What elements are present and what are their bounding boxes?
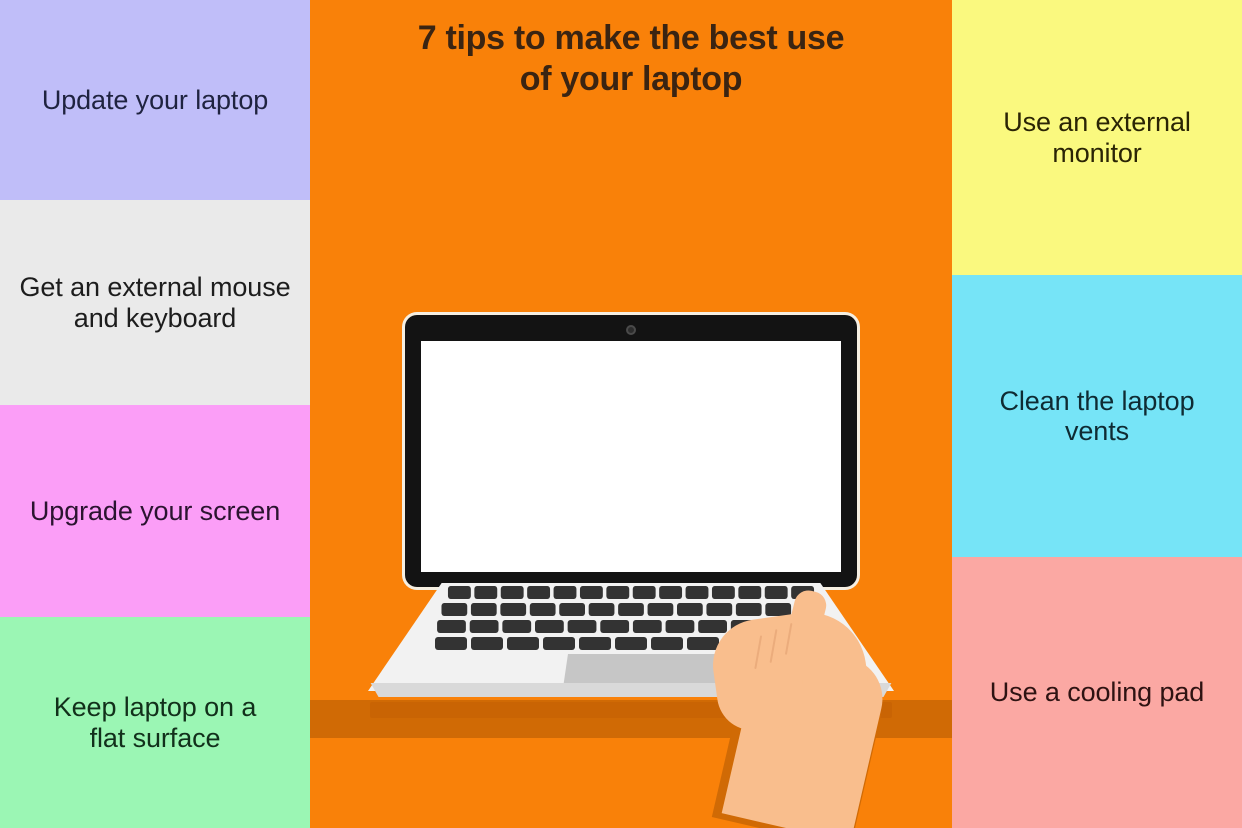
- keyboard-key: [580, 586, 603, 599]
- keyboard-key: [666, 620, 695, 633]
- keyboard-key: [736, 603, 762, 616]
- tip-panel-update-your-laptop[interactable]: Update your laptop: [0, 0, 310, 200]
- tip-label-use-a-cooling-pad: Use a cooling pad: [990, 677, 1204, 707]
- webcam-icon: [626, 325, 636, 335]
- tip-panel-use-an-external-monitor[interactable]: Use an external monitor: [952, 0, 1242, 275]
- keyboard-key: [448, 586, 471, 599]
- laptop-lid: [405, 315, 857, 587]
- keyboard-key: [568, 620, 597, 633]
- keyboard-row: [412, 586, 850, 599]
- keyboard-key: [527, 586, 550, 599]
- keyboard-key: [435, 637, 467, 650]
- keyboard-key: [441, 603, 467, 616]
- keyboard-key: [633, 586, 656, 599]
- keyboard-key: [579, 637, 611, 650]
- keyboard-key: [589, 603, 615, 616]
- tip-panel-upgrade-your-screen[interactable]: Upgrade your screen: [0, 405, 310, 617]
- tip-panel-get-an-external-mouse-and-keyboard[interactable]: Get an external mouse and keyboard: [0, 200, 310, 405]
- laptop-illustration: [310, 0, 952, 828]
- keyboard-key: [600, 620, 629, 633]
- keyboard-key: [502, 620, 531, 633]
- keyboard-key: [686, 586, 709, 599]
- keyboard-key: [507, 637, 539, 650]
- keyboard-key: [554, 586, 577, 599]
- keyboard-key: [501, 586, 524, 599]
- tip-label-update-your-laptop: Update your laptop: [42, 85, 268, 115]
- keyboard-key: [677, 603, 703, 616]
- left-knuckle-line: [770, 629, 778, 663]
- keyboard-key: [651, 637, 683, 650]
- keyboard-key: [615, 637, 647, 650]
- tip-label-keep-laptop-on-a-flat-surface: Keep laptop on a flat surface: [40, 692, 270, 752]
- keyboard-key: [738, 586, 761, 599]
- keyboard-key: [474, 586, 497, 599]
- keyboard-key: [535, 620, 564, 633]
- keyboard-key: [437, 620, 466, 633]
- tip-label-clean-the-laptop-vents: Clean the laptop vents: [975, 386, 1220, 446]
- keyboard-key: [659, 586, 682, 599]
- tip-panel-keep-laptop-on-a-flat-surface[interactable]: Keep laptop on a flat surface: [0, 617, 310, 828]
- keyboard-key: [530, 603, 556, 616]
- keyboard-key: [559, 603, 585, 616]
- keyboard-key: [500, 603, 526, 616]
- keyboard-key: [706, 603, 732, 616]
- keyboard-key: [698, 620, 727, 633]
- center-illustration-stage: 7 tips to make the best use of your lapt…: [310, 0, 952, 828]
- keyboard-key: [471, 603, 497, 616]
- keyboard-key: [606, 586, 629, 599]
- tip-label-get-an-external-mouse-and-keyboard: Get an external mouse and keyboard: [8, 272, 302, 332]
- keyboard-key: [648, 603, 674, 616]
- tip-panel-clean-the-laptop-vents[interactable]: Clean the laptop vents: [952, 275, 1242, 557]
- tip-label-use-an-external-monitor: Use an external monitor: [980, 107, 1215, 167]
- right-tips-column: Use an external monitor Clean the laptop…: [952, 0, 1242, 828]
- tip-panel-use-a-cooling-pad[interactable]: Use a cooling pad: [952, 557, 1242, 828]
- left-tips-column: Update your laptop Get an external mouse…: [0, 0, 310, 828]
- laptop-screen: [421, 341, 841, 572]
- keyboard-key: [765, 586, 788, 599]
- keyboard-key: [543, 637, 575, 650]
- infographic-canvas: Update your laptop Get an external mouse…: [0, 0, 1242, 828]
- keyboard-key: [471, 637, 503, 650]
- left-knuckle-line: [754, 635, 762, 669]
- keyboard-key: [687, 637, 719, 650]
- keyboard-key: [618, 603, 644, 616]
- keyboard-key: [470, 620, 499, 633]
- keyboard-key: [712, 586, 735, 599]
- keyboard-key: [633, 620, 662, 633]
- tip-label-upgrade-your-screen: Upgrade your screen: [30, 496, 280, 526]
